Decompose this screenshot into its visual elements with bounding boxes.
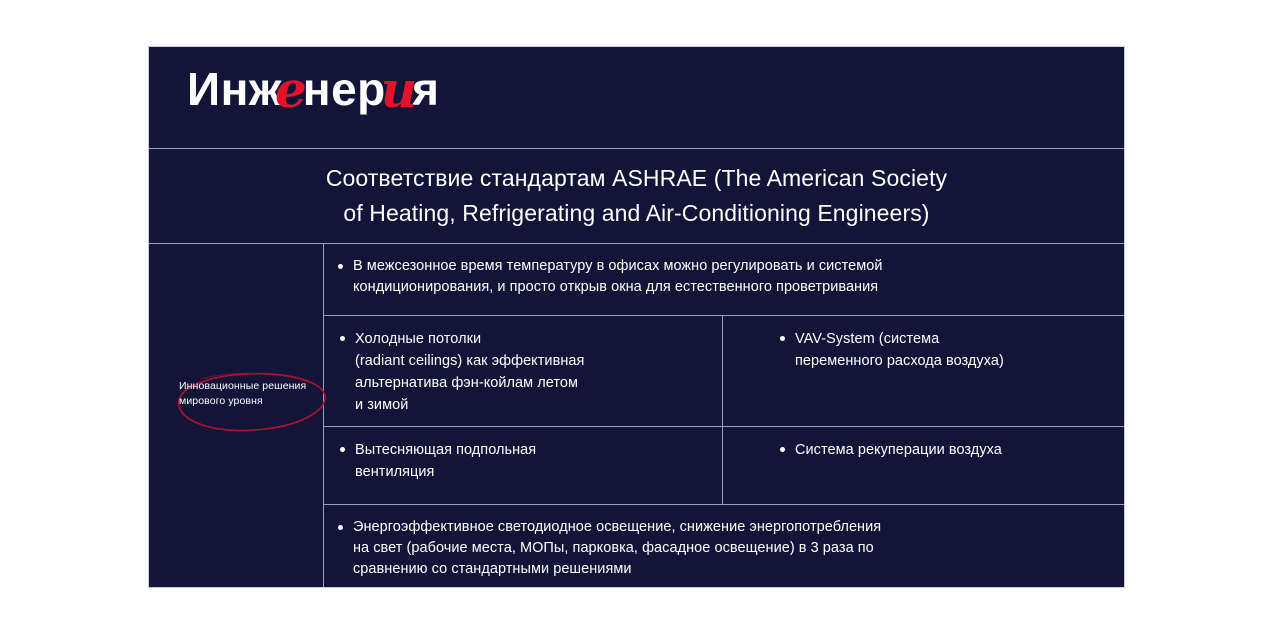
bullet-dot-icon [338, 525, 343, 530]
list-item: В межсезонное время температуру в офисах… [338, 256, 883, 305]
annotation-text: Инновационные решения мирового уровня [179, 379, 321, 408]
bullet-dot-icon [340, 336, 345, 341]
slide-header: Соответствие стандартам ASHRAE (The Amer… [149, 149, 1124, 244]
content-cell-4-1: Энергоэффективное светодиодное освещение… [324, 505, 1124, 590]
header-line-2: of Heating, Refrigerating and Air-Condit… [343, 196, 929, 231]
list-item: Энергоэффективное светодиодное освещение… [338, 517, 881, 580]
list-item: Вытесняющая подпольная вентиляция [340, 439, 536, 494]
content-row-1: В межсезонное время температуру в офисах… [324, 244, 1124, 316]
list-item: Система рекуперации воздуха [780, 439, 1002, 494]
logo-script-e: е [275, 60, 306, 119]
logo-script-i: и [381, 60, 416, 119]
logo-part-1: Инж [187, 63, 282, 115]
bullet-text: Холодные потолки (radiant ceilings) как … [355, 328, 584, 416]
left-annotation-column: Инновационные решения мирового уровня [149, 244, 324, 587]
logo-part-2: нер [303, 63, 386, 115]
content-row-2: Холодные потолки (radiant ceilings) как … [324, 316, 1124, 427]
list-item: VAV-System (система переменного расхода … [780, 328, 1004, 416]
bullet-dot-icon [780, 447, 785, 452]
bullet-dot-icon [338, 264, 343, 269]
content-grid: Инновационные решения мирового уровня В … [149, 244, 1124, 587]
bullet-text: Система рекуперации воздуха [795, 439, 1002, 461]
content-row-4: Энергоэффективное светодиодное освещение… [324, 505, 1124, 590]
content-cell-3-1: Вытесняющая подпольная вентиляция [324, 427, 723, 504]
content-cell-2-1: Холодные потолки (radiant ceilings) как … [324, 316, 723, 426]
content-row-3: Вытесняющая подпольная вентиляция Систем… [324, 427, 1124, 505]
slide-stage: Инженерия Соответствие стандартам ASHRAE… [0, 0, 1280, 639]
bullet-text: Энергоэффективное светодиодное освещение… [353, 517, 881, 580]
slide-panel: Инженерия Соответствие стандартам ASHRAE… [148, 46, 1125, 588]
logo-bar: Инженерия [149, 47, 1124, 149]
list-item: Холодные потолки (radiant ceilings) как … [340, 328, 584, 416]
header-line-1: Соответствие стандартам ASHRAE (The Amer… [326, 161, 947, 196]
logo-part-3: я [412, 63, 439, 115]
content-cell-1-1: В межсезонное время температуру в офисах… [324, 244, 1124, 315]
bullet-text: Вытесняющая подпольная вентиляция [355, 439, 536, 483]
bullets-column: В межсезонное время температуру в офисах… [324, 244, 1124, 587]
bullet-text: В межсезонное время температуру в офисах… [353, 256, 883, 298]
bullet-text: VAV-System (система переменного расхода … [795, 328, 1004, 372]
content-cell-3-2: Система рекуперации воздуха [723, 427, 1124, 504]
brand-logo: Инженерия [187, 63, 439, 113]
bullet-dot-icon [780, 336, 785, 341]
content-cell-2-2: VAV-System (система переменного расхода … [723, 316, 1124, 426]
bullet-dot-icon [340, 447, 345, 452]
